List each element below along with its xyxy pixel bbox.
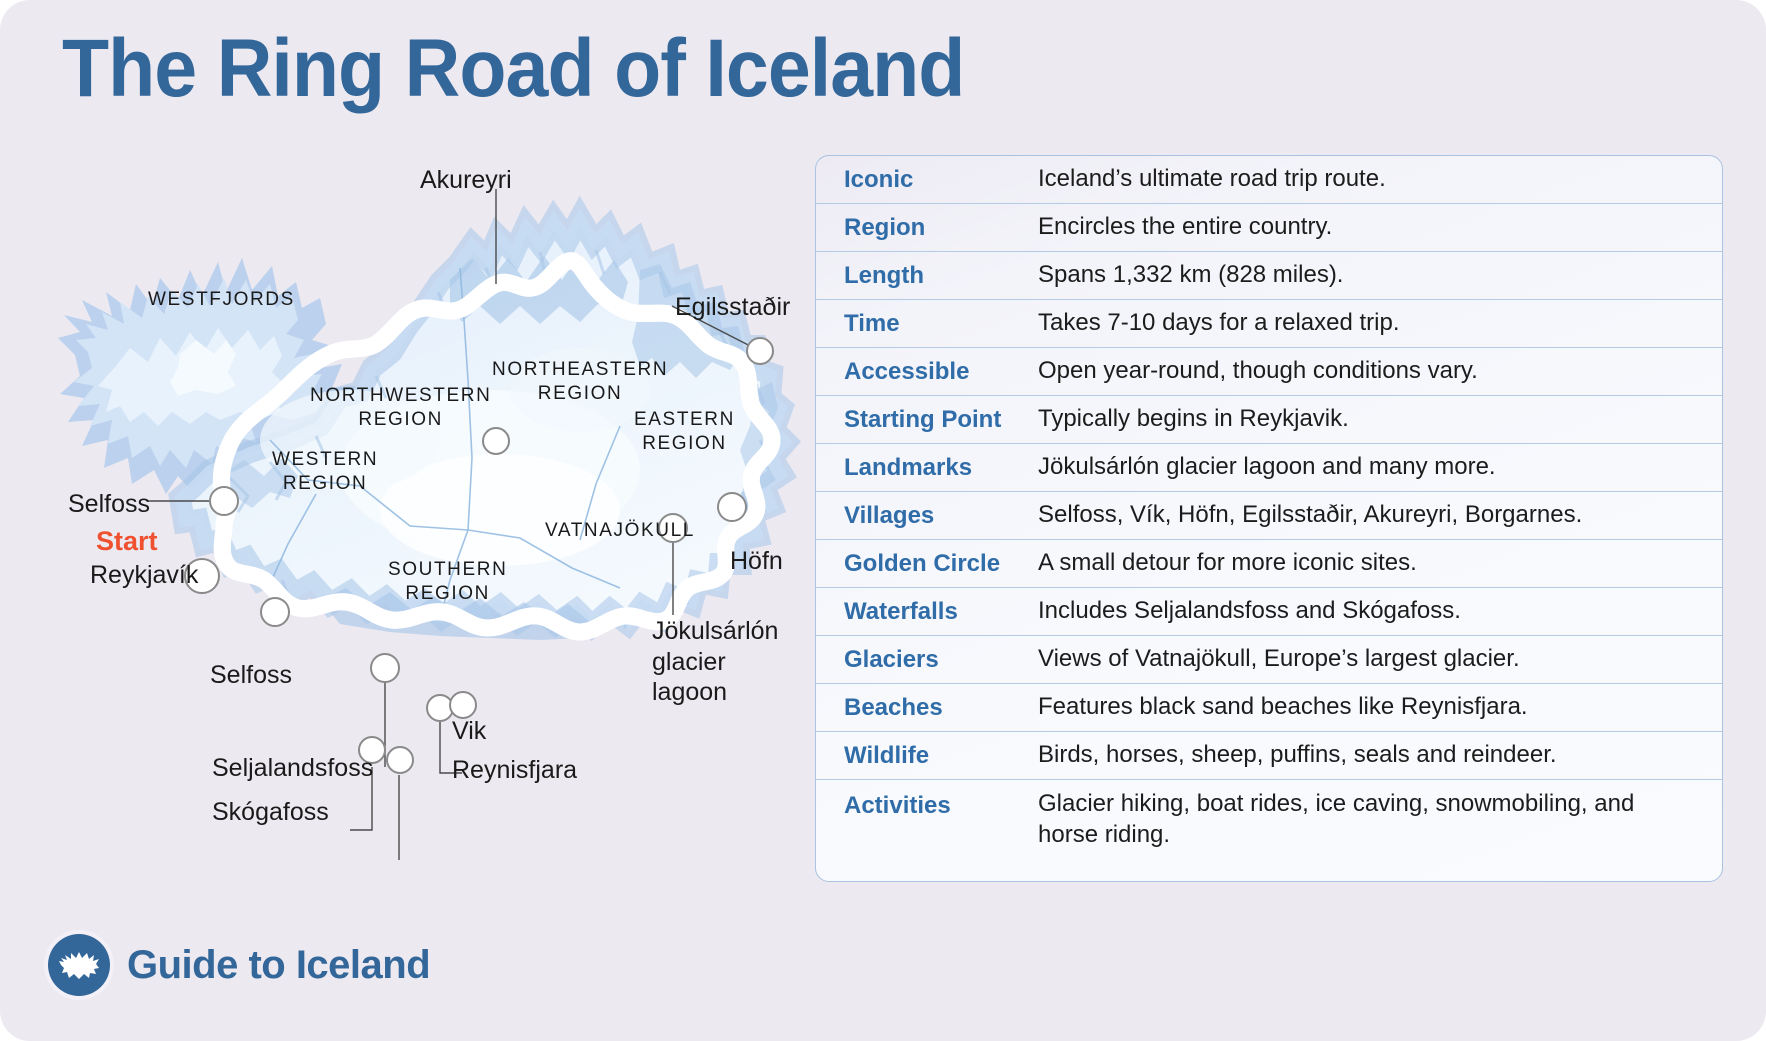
row-value: Jökulsárlón glacier lagoon and many more…: [1038, 452, 1514, 482]
row-value: Iceland’s ultimate road trip route.: [1038, 164, 1404, 194]
marker-reynisfjara[interactable]: [427, 695, 453, 721]
table-row: Starting Point Typically begins in Reykj…: [816, 396, 1722, 444]
table-row: Glaciers Views of Vatnajökull, Europe’s …: [816, 636, 1722, 684]
map-label-selfoss-north: Selfoss: [68, 490, 150, 519]
row-key: Region: [844, 214, 1038, 242]
table-row: Accessible Open year-round, though condi…: [816, 348, 1722, 396]
map-label-akureyri: Akureyri: [420, 166, 512, 195]
row-key: Golden Circle: [844, 550, 1038, 578]
brand-name: Guide to Iceland: [127, 943, 430, 988]
region-label-western: WESTERNREGION: [272, 448, 378, 496]
region-label-northwestern: NORTHWESTERNREGION: [310, 384, 491, 432]
table-row: Landmarks Jökulsárlón glacier lagoon and…: [816, 444, 1722, 492]
leader-skogafoss: [320, 775, 399, 860]
row-key: Glaciers: [844, 646, 1038, 674]
row-value: Takes 7-10 days for a relaxed trip.: [1038, 308, 1418, 338]
map-label-vik: Vik: [452, 717, 486, 746]
row-value: Encircles the entire country.: [1038, 212, 1350, 242]
row-value: Glacier hiking, boat rides, ice caving, …: [1038, 789, 1696, 850]
table-row: Activities Glacier hiking, boat rides, i…: [816, 780, 1722, 859]
region-label-southern: SOUTHERNREGION: [388, 558, 507, 606]
row-key: Iconic: [844, 166, 1038, 194]
iceland-map: WESTFJORDS NORTHWESTERNREGION NORTHEASTE…: [20, 140, 810, 860]
facts-table: Iconic Iceland’s ultimate road trip rout…: [815, 155, 1723, 882]
marker-selfoss-north[interactable]: [210, 487, 238, 515]
infographic-poster: The Ring Road of Iceland: [0, 0, 1766, 1041]
map-label-jokulsarlon: Jökulsárlón glacier lagoon: [652, 616, 782, 708]
brand-logo[interactable]: Guide to Iceland: [48, 934, 430, 996]
map-label-selfoss-south: Selfoss: [210, 661, 292, 690]
row-key: Length: [844, 262, 1038, 290]
map-label-egilsstadir: Egilsstaðir: [675, 293, 790, 322]
iceland-silhouette-icon: [48, 934, 110, 996]
table-row: Waterfalls Includes Seljalandsfoss and S…: [816, 588, 1722, 636]
row-value: Open year-round, though conditions vary.: [1038, 356, 1496, 386]
table-row: Villages Selfoss, Vík, Höfn, Egilsstaðir…: [816, 492, 1722, 540]
table-row: Iconic Iceland’s ultimate road trip rout…: [816, 156, 1722, 204]
row-key: Starting Point: [844, 406, 1038, 434]
row-value: Birds, horses, sheep, puffins, seals and…: [1038, 740, 1575, 770]
row-key: Landmarks: [844, 454, 1038, 482]
row-key: Waterfalls: [844, 598, 1038, 626]
map-label-skogafoss: Skógafoss: [212, 798, 329, 827]
page-title: The Ring Road of Iceland: [62, 22, 964, 116]
table-row: Golden Circle A small detour for more ic…: [816, 540, 1722, 588]
map-label-reynisfjara: Reynisfjara: [452, 756, 577, 785]
marker-selfoss-south[interactable]: [371, 654, 399, 682]
row-key: Activities: [844, 780, 1038, 820]
iceland-shape: [58, 949, 100, 981]
row-value: Selfoss, Vík, Höfn, Egilsstaðir, Akureyr…: [1038, 500, 1600, 530]
marker-akureyri[interactable]: [483, 428, 509, 454]
table-row: Wildlife Birds, horses, sheep, puffins, …: [816, 732, 1722, 780]
marker-egilsstadir[interactable]: [747, 338, 773, 364]
region-label-eastern: EASTERNREGION: [634, 408, 735, 456]
row-value: A small detour for more iconic sites.: [1038, 548, 1435, 578]
row-value: Spans 1,332 km (828 miles).: [1038, 260, 1361, 290]
row-value: Features black sand beaches like Reynisf…: [1038, 692, 1546, 722]
marker-skogafoss[interactable]: [387, 747, 413, 773]
table-row: Length Spans 1,332 km (828 miles).: [816, 252, 1722, 300]
marker-vik[interactable]: [450, 692, 476, 718]
row-key: Accessible: [844, 358, 1038, 386]
marker-borgarnes[interactable]: [261, 598, 289, 626]
map-label-hofn: Höfn: [730, 547, 783, 576]
row-key: Wildlife: [844, 742, 1038, 770]
region-label-vatnajokull: VATNAJÖKULL: [545, 519, 695, 543]
marker-hofn[interactable]: [718, 493, 746, 521]
row-key: Villages: [844, 502, 1038, 530]
row-key: Time: [844, 310, 1038, 338]
row-key: Beaches: [844, 694, 1038, 722]
row-value: Typically begins in Reykjavik.: [1038, 404, 1367, 434]
row-value: Views of Vatnajökull, Europe’s largest g…: [1038, 644, 1538, 674]
map-label-start: Start: [96, 526, 158, 557]
table-row: Beaches Features black sand beaches like…: [816, 684, 1722, 732]
region-label-northeastern: NORTHEASTERNREGION: [492, 358, 668, 406]
table-row: Region Encircles the entire country.: [816, 204, 1722, 252]
table-row: Time Takes 7-10 days for a relaxed trip.: [816, 300, 1722, 348]
map-label-reykjavik: Reykjavík: [90, 561, 198, 590]
region-label-westfjords: WESTFJORDS: [148, 288, 295, 312]
row-value: Includes Seljalandsfoss and Skógafoss.: [1038, 596, 1479, 626]
map-label-seljalandsfoss: Seljalandsfoss: [212, 754, 373, 783]
